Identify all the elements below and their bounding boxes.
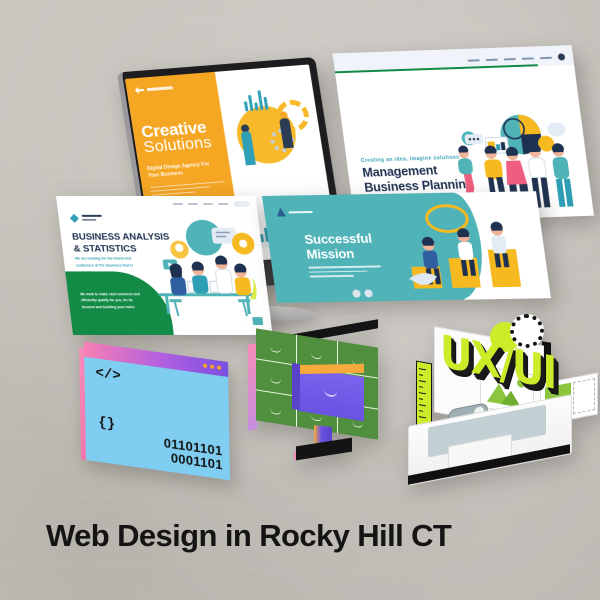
mission-brand-logo	[276, 207, 314, 217]
triangle-logo-icon	[276, 208, 286, 217]
nav-avatar-icon	[557, 53, 565, 60]
arrow-logo-icon	[134, 86, 144, 94]
drawer-top-lip	[292, 364, 364, 374]
drawer-handle-icon	[311, 353, 322, 360]
monitor-subtext: Digital Design Agency For Your Business	[147, 160, 224, 181]
ba-blob-text: We work to make each business well effic…	[80, 291, 145, 311]
mission-illustration	[396, 199, 546, 292]
ba-nav-menu[interactable]	[172, 201, 249, 207]
drawer-left-lip	[292, 363, 300, 410]
drawer-handle-icon	[352, 422, 363, 429]
drawer-handle-icon	[270, 378, 281, 385]
mission-pagination-dots[interactable]	[352, 289, 373, 297]
code-window-body: </> {} 01101101 0001101	[84, 357, 230, 481]
ba-nav-button[interactable]	[233, 201, 250, 207]
card-nav-menu[interactable]	[467, 53, 565, 63]
drawer-handle-icon	[311, 415, 322, 422]
code-window-illustration[interactable]: </> {} 01101101 0001101	[84, 342, 230, 481]
page-title: Web Design in Rocky Hill CT	[46, 518, 451, 554]
mission-title: Successful Mission	[304, 232, 375, 263]
monitor-headline: Creative Solutions	[140, 118, 219, 157]
ba-brand-logo	[69, 214, 102, 223]
monitor-brand-logo	[134, 81, 209, 94]
card-successful-mission[interactable]: Successful Mission	[262, 191, 551, 303]
filing-cabinet-illustration[interactable]	[254, 330, 380, 452]
ba-browser-bar	[56, 196, 257, 210]
binary-text: 01101101 0001101	[164, 436, 223, 473]
drawer-handle-icon	[270, 409, 281, 416]
uxui-laptop-illustration[interactable]: UX/UI	[392, 318, 584, 490]
drawer-handle-icon	[270, 347, 281, 354]
cabinet-foot	[296, 438, 352, 461]
wireframe-placeholder-box	[573, 378, 595, 414]
bar-chart-decoration	[242, 90, 268, 112]
curly-brace-icon: {}	[98, 415, 115, 433]
mission-text-lines	[308, 265, 382, 280]
code-tag-icon: </>	[95, 365, 120, 385]
monitor-text-lines	[150, 181, 226, 196]
ba-illustration	[139, 214, 270, 329]
card-business-analysis[interactable]: BUSINESS ANALYSIS & STATISTICS We are lo…	[56, 196, 273, 335]
window-control-dots[interactable]	[203, 363, 221, 370]
diamond-logo-icon	[69, 214, 79, 223]
poster-canvas: Creative Solutions Digital Design Agency…	[0, 0, 600, 600]
headline-line-2: Solutions	[143, 135, 220, 157]
